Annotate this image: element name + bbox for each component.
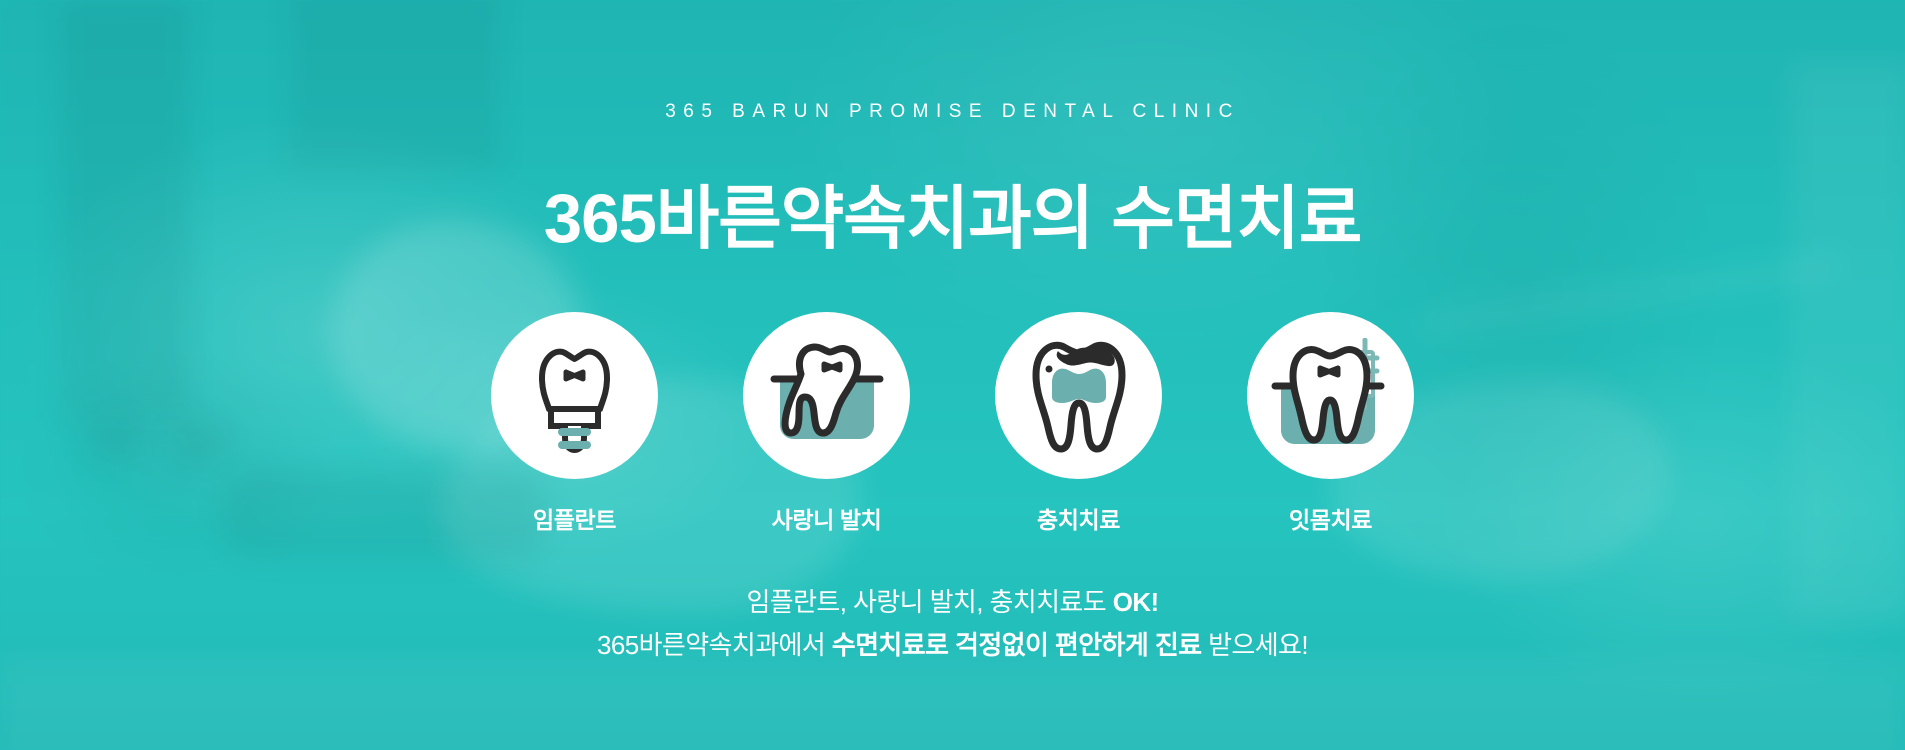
tagline-line-2: 365바른약속치과에서 수면치료로 걱정없이 편안하게 진료 받으세요! <box>0 625 1905 662</box>
hero-banner: 365 BARUN PROMISE DENTAL CLINIC 365바른약속치… <box>0 0 1905 750</box>
hero-content: 365 BARUN PROMISE DENTAL CLINIC 365바른약속치… <box>0 0 1905 750</box>
cavity-treatment-icon <box>1024 337 1134 455</box>
tagline-2-lead: 365바른약속치과에서 <box>597 630 832 660</box>
clinic-name-eyebrow: 365 BARUN PROMISE DENTAL CLINIC <box>0 101 1905 123</box>
service-icon-circle <box>1247 312 1414 479</box>
service-label: 충치치료 <box>1037 501 1120 535</box>
service-item-wisdom-tooth[interactable]: 사랑니 발치 <box>743 312 910 535</box>
tagline-2-tail: 받으세요! <box>1201 630 1308 660</box>
service-item-implant[interactable]: 임플란트 <box>491 312 658 535</box>
service-icon-circle <box>743 312 910 479</box>
service-item-gum[interactable]: 잇몸치료 <box>1247 312 1414 535</box>
tagline-1-strong: OK! <box>1113 587 1159 617</box>
service-icon-circle <box>491 312 658 479</box>
service-item-cavity[interactable]: 충치치료 <box>995 312 1162 535</box>
page-title: 365바른약속치과의 수면치료 <box>0 184 1905 253</box>
service-label: 임플란트 <box>533 501 616 535</box>
service-icon-row: 임플란트 사랑니 발치 <box>0 312 1905 535</box>
dental-implant-icon <box>522 338 627 453</box>
tagline-1-lead: 임플란트, 사랑니 발치, 충치치료도 <box>746 587 1112 617</box>
tagline-line-1: 임플란트, 사랑니 발치, 충치치료도 OK! <box>0 582 1905 619</box>
gum-treatment-syringe-icon <box>1271 338 1391 454</box>
service-label: 잇몸치료 <box>1289 501 1372 535</box>
service-label: 사랑니 발치 <box>772 501 882 535</box>
tagline-2-strong: 수면치료로 걱정없이 편안하게 진료 <box>832 630 1202 660</box>
service-icon-circle <box>995 312 1162 479</box>
wisdom-tooth-extraction-icon <box>768 341 886 451</box>
